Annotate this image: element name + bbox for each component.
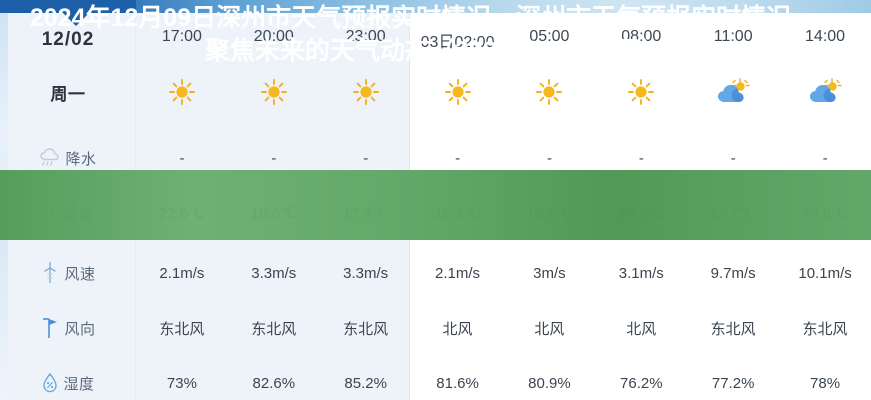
precipitation-value: - xyxy=(687,150,779,167)
wind-speed-value: 10.1m/s xyxy=(779,265,871,282)
humidity-value: 80.9% xyxy=(504,375,596,392)
wind-direction-row: 风向 东北风 东北风 东北风 北风 北风 北风 东北风 东北风 xyxy=(0,308,871,348)
condition-cell[interactable] xyxy=(228,77,320,107)
weekday-cell: 周一 xyxy=(0,80,136,105)
humidity-label-cell: 湿度 xyxy=(0,372,136,394)
precipitation-value: - xyxy=(779,150,871,167)
caption-overlay-text-wrap: 2024年12月09日深州市天气预报实时情况，深州市天气预报实时情况——聚焦未来… xyxy=(0,0,871,70)
sun-icon xyxy=(259,77,289,107)
wind-speed-value: 3.3m/s xyxy=(320,265,412,282)
condition-cell[interactable] xyxy=(504,77,596,107)
precipitation-value: - xyxy=(504,150,596,167)
precipitation-value: - xyxy=(320,150,412,167)
precipitation-value: - xyxy=(136,150,228,167)
wind-direction-value: 东北风 xyxy=(136,318,228,339)
wind-speed-value: 2.1m/s xyxy=(136,265,228,282)
partly-cloudy-icon xyxy=(808,77,842,107)
caption-text: 2024年12月09日深州市天气预报实时情况，深州市天气预报实时情况——聚焦未来… xyxy=(22,2,849,68)
condition-cell[interactable] xyxy=(779,77,871,107)
weather-condition-row: 周一 xyxy=(0,75,871,109)
wind-speed-value: 9.7m/s xyxy=(687,265,779,282)
wind-speed-value: 3.3m/s xyxy=(228,265,320,282)
wind-speed-label-cell: 风速 xyxy=(0,261,136,285)
wind-direction-value: 北风 xyxy=(412,318,504,339)
wind-direction-value: 东北风 xyxy=(687,318,779,339)
condition-cell[interactable] xyxy=(412,77,504,107)
sun-icon xyxy=(167,77,197,107)
water-drop-icon xyxy=(41,372,59,394)
rain-cloud-icon xyxy=(39,148,61,168)
wind-speed-cells: 2.1m/s 3.3m/s 3.3m/s 2.1m/s 3m/s 3.1m/s … xyxy=(136,265,871,282)
sun-icon xyxy=(443,77,473,107)
wind-direction-value: 北风 xyxy=(504,318,596,339)
sun-icon xyxy=(351,77,381,107)
precipitation-cells: - - - - - - - - xyxy=(136,150,871,167)
condition-cell[interactable] xyxy=(687,77,779,107)
wind-tower-icon xyxy=(40,261,60,285)
sun-icon xyxy=(626,77,656,107)
caption-overlay xyxy=(0,170,871,240)
wind-speed-value: 2.1m/s xyxy=(412,265,504,282)
wind-direction-value: 东北风 xyxy=(779,318,871,339)
wind-direction-label: 风向 xyxy=(64,318,95,339)
precipitation-value: - xyxy=(595,150,687,167)
humidity-value: 78% xyxy=(779,375,871,392)
humidity-label: 湿度 xyxy=(63,373,94,394)
humidity-value: 81.6% xyxy=(412,375,504,392)
humidity-cells: 73% 82.6% 85.2% 81.6% 80.9% 76.2% 77.2% … xyxy=(136,375,871,392)
wind-speed-label: 风速 xyxy=(64,263,95,284)
wind-direction-value: 东北风 xyxy=(320,318,412,339)
wind-speed-row: 风速 2.1m/s 3.3m/s 3.3m/s 2.1m/s 3m/s 3.1m… xyxy=(0,253,871,293)
wind-direction-label-cell: 风向 xyxy=(0,316,136,340)
wind-direction-cells: 东北风 东北风 东北风 北风 北风 北风 东北风 东北风 xyxy=(136,318,871,339)
sun-icon xyxy=(534,77,564,107)
condition-cell[interactable] xyxy=(595,77,687,107)
precipitation-label-cell: 降水 xyxy=(0,148,136,169)
condition-cell[interactable] xyxy=(320,77,412,107)
humidity-value: 73% xyxy=(136,375,228,392)
wind-direction-value: 东北风 xyxy=(228,318,320,339)
humidity-value: 82.6% xyxy=(228,375,320,392)
condition-cells xyxy=(136,77,871,107)
precipitation-label: 降水 xyxy=(65,148,96,169)
wind-direction-value: 北风 xyxy=(595,318,687,339)
weekday-label: 周一 xyxy=(51,80,86,105)
caption-overlay-gradient xyxy=(0,170,871,240)
wind-speed-value: 3m/s xyxy=(504,265,596,282)
humidity-value: 76.2% xyxy=(595,375,687,392)
humidity-row: 湿度 73% 82.6% 85.2% 81.6% 80.9% 76.2% 77.… xyxy=(0,363,871,400)
wind-vane-icon xyxy=(40,316,60,340)
partly-cloudy-icon xyxy=(716,77,750,107)
precipitation-value: - xyxy=(412,150,504,167)
humidity-value: 77.2% xyxy=(687,375,779,392)
precipitation-value: - xyxy=(228,150,320,167)
condition-cell[interactable] xyxy=(136,77,228,107)
humidity-value: 85.2% xyxy=(320,375,412,392)
wind-speed-value: 3.1m/s xyxy=(595,265,687,282)
